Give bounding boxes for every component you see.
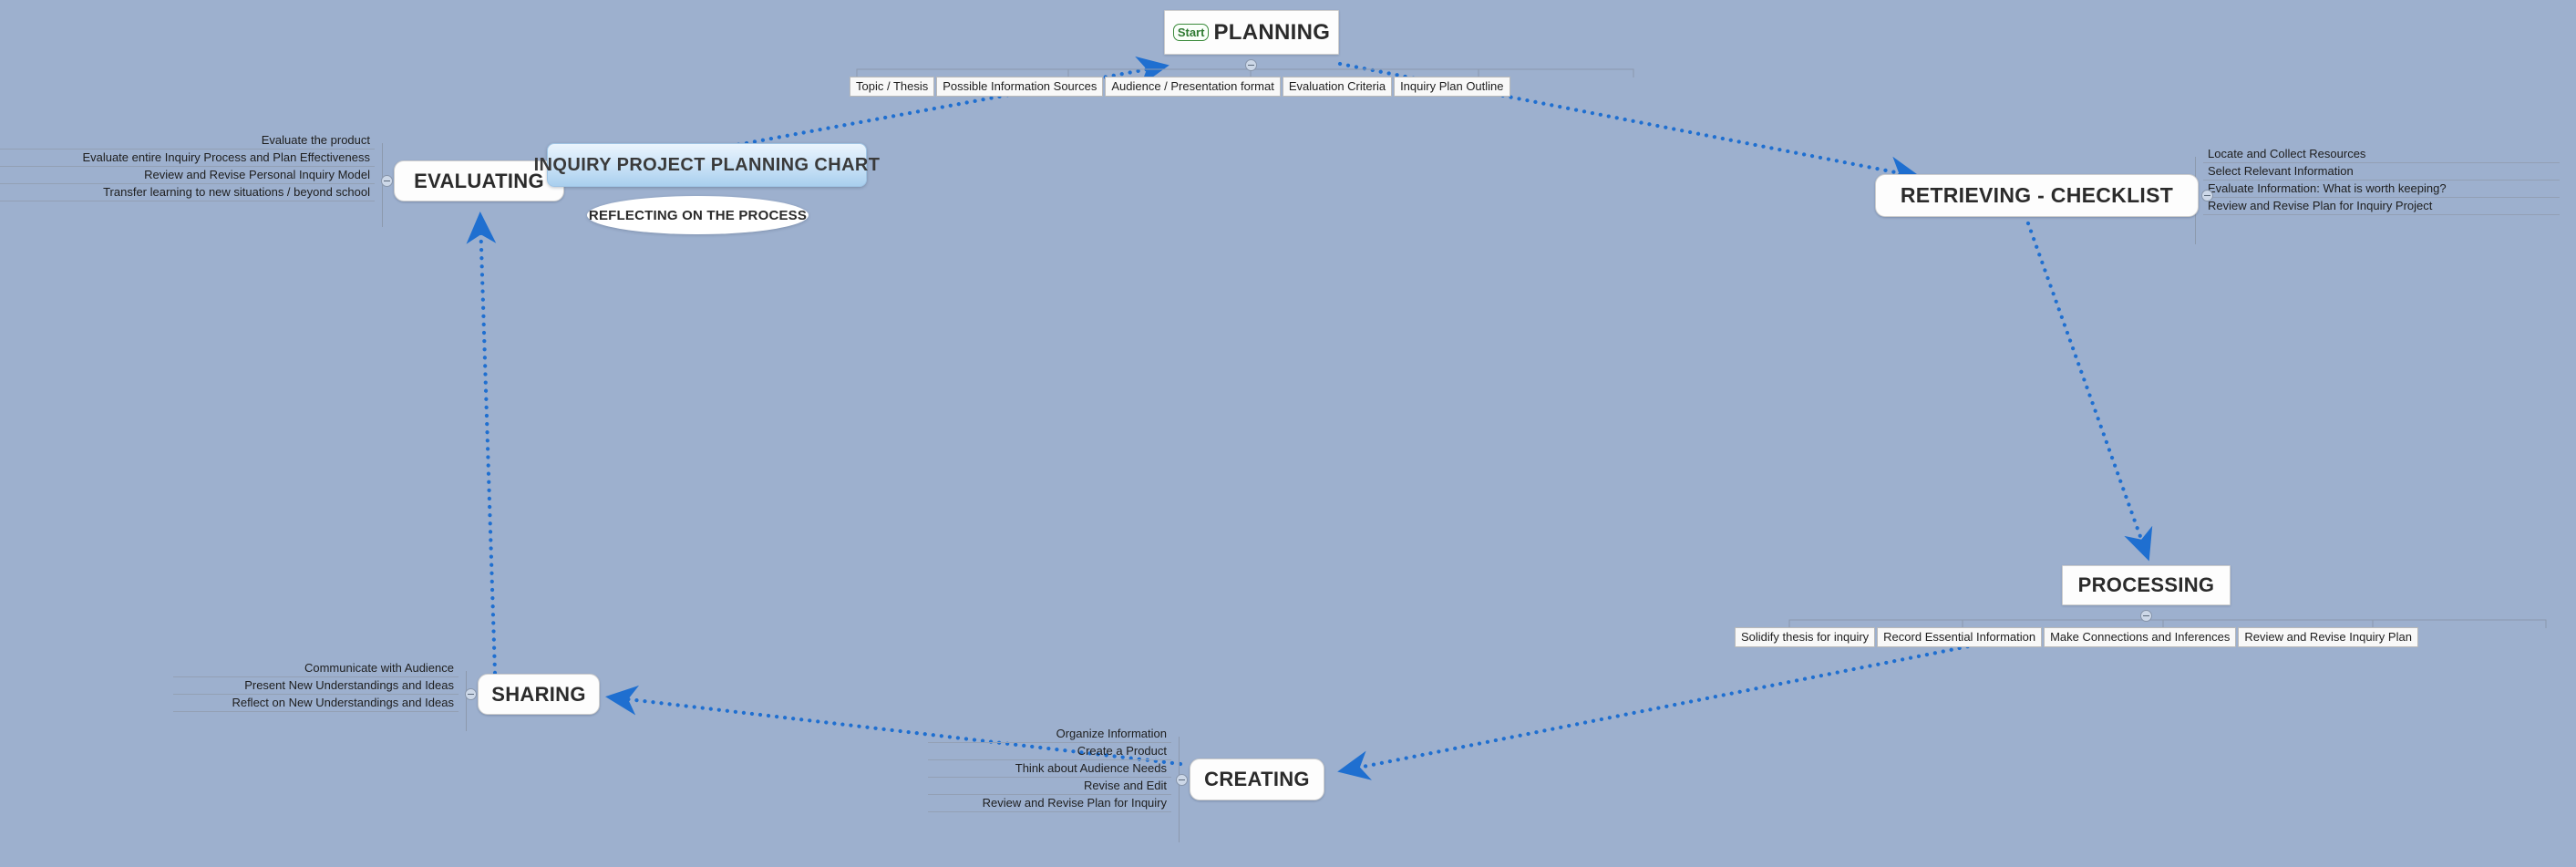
subitem-planning-0[interactable]: Topic / Thesis	[850, 77, 934, 97]
subitem-planning-3[interactable]: Evaluation Criteria	[1283, 77, 1392, 97]
collapse-toggle-processing[interactable]	[2140, 610, 2152, 622]
subitem-evaluating-0[interactable]: Evaluate the product	[0, 132, 375, 150]
subitem-processing-3[interactable]: Review and Revise Inquiry Plan	[2238, 627, 2418, 647]
subitem-planning-4[interactable]: Inquiry Plan Outline	[1394, 77, 1510, 97]
node-creating[interactable]: CREATING	[1190, 759, 1324, 800]
collapse-toggle-planning[interactable]	[1245, 59, 1257, 71]
flow-connectors	[0, 0, 2576, 867]
subitem-sharing-0[interactable]: Communicate with Audience	[173, 660, 459, 677]
subitem-planning-2[interactable]: Audience / Presentation format	[1105, 77, 1281, 97]
subitem-creating-1[interactable]: Create a Product	[928, 743, 1171, 760]
subitem-retrieving-3[interactable]: Review and Revise Plan for Inquiry Proje…	[2203, 198, 2560, 215]
mindmap-canvas: Start PLANNING Topic / Thesis Possible I…	[0, 0, 2576, 867]
node-retrieving-label: RETRIEVING - CHECKLIST	[1901, 183, 2173, 208]
node-planning[interactable]: Start PLANNING	[1164, 10, 1339, 55]
subitem-processing-0[interactable]: Solidify thesis for inquiry	[1735, 627, 1875, 647]
node-creating-label: CREATING	[1204, 768, 1310, 791]
subitems-sharing: Communicate with Audience Present New Un…	[173, 660, 467, 712]
subitem-retrieving-0[interactable]: Locate and Collect Resources	[2203, 146, 2560, 163]
subitem-sharing-2[interactable]: Reflect on New Understandings and Ideas	[173, 695, 459, 712]
collapse-toggle-retrieving[interactable]	[2201, 190, 2213, 201]
node-sharing[interactable]: SHARING	[478, 674, 600, 715]
subitem-retrieving-1[interactable]: Select Relevant Information	[2203, 163, 2560, 181]
subitem-processing-1[interactable]: Record Essential Information	[1877, 627, 2042, 647]
subitem-creating-0[interactable]: Organize Information	[928, 726, 1171, 743]
subitem-evaluating-1[interactable]: Evaluate entire Inquiry Process and Plan…	[0, 150, 375, 167]
page-title: INQUIRY PROJECT PLANNING CHART	[547, 143, 867, 187]
subitem-creating-3[interactable]: Revise and Edit	[928, 778, 1171, 795]
node-retrieving[interactable]: RETRIEVING - CHECKLIST	[1875, 174, 2199, 217]
reflecting-node[interactable]: REFLECTING ON THE PROCESS	[587, 196, 809, 234]
node-evaluating-label: EVALUATING	[414, 170, 544, 193]
subitem-planning-1[interactable]: Possible Information Sources	[936, 77, 1103, 97]
node-processing[interactable]: PROCESSING	[2062, 565, 2231, 605]
start-icon: Start	[1173, 24, 1210, 41]
collapse-toggle-sharing[interactable]	[465, 688, 477, 700]
edge-processing-creating	[1345, 634, 2033, 770]
node-processing-label: PROCESSING	[2078, 573, 2215, 597]
subitem-creating-4[interactable]: Review and Revise Plan for Inquiry	[928, 795, 1171, 812]
subitem-sharing-1[interactable]: Present New Understandings and Ideas	[173, 677, 459, 695]
node-planning-label: PLANNING	[1213, 20, 1330, 46]
subitem-processing-2[interactable]: Make Connections and Inferences	[2044, 627, 2236, 647]
collapse-toggle-creating[interactable]	[1176, 774, 1188, 786]
subitem-retrieving-2[interactable]: Evaluate Information: What is worth keep…	[2203, 181, 2560, 198]
collapse-toggle-evaluating[interactable]	[381, 175, 393, 187]
subitem-creating-2[interactable]: Think about Audience Needs	[928, 760, 1171, 778]
edge-retrieving-processing	[2028, 223, 2147, 554]
node-sharing-label: SHARING	[491, 683, 586, 707]
subitems-creating: Organize Information Create a Product Th…	[928, 726, 1180, 812]
subitems-planning: Topic / Thesis Possible Information Sour…	[850, 77, 1512, 97]
subitem-evaluating-2[interactable]: Review and Revise Personal Inquiry Model	[0, 167, 375, 184]
subitems-retrieving: Locate and Collect Resources Select Rele…	[2195, 146, 2560, 215]
subitems-processing: Solidify thesis for inquiry Record Essen…	[1735, 627, 2420, 647]
edge-sharing-evaluating	[480, 219, 495, 673]
subitems-evaluating: Evaluate the product Evaluate entire Inq…	[0, 132, 383, 201]
subitem-evaluating-3[interactable]: Transfer learning to new situations / be…	[0, 184, 375, 201]
